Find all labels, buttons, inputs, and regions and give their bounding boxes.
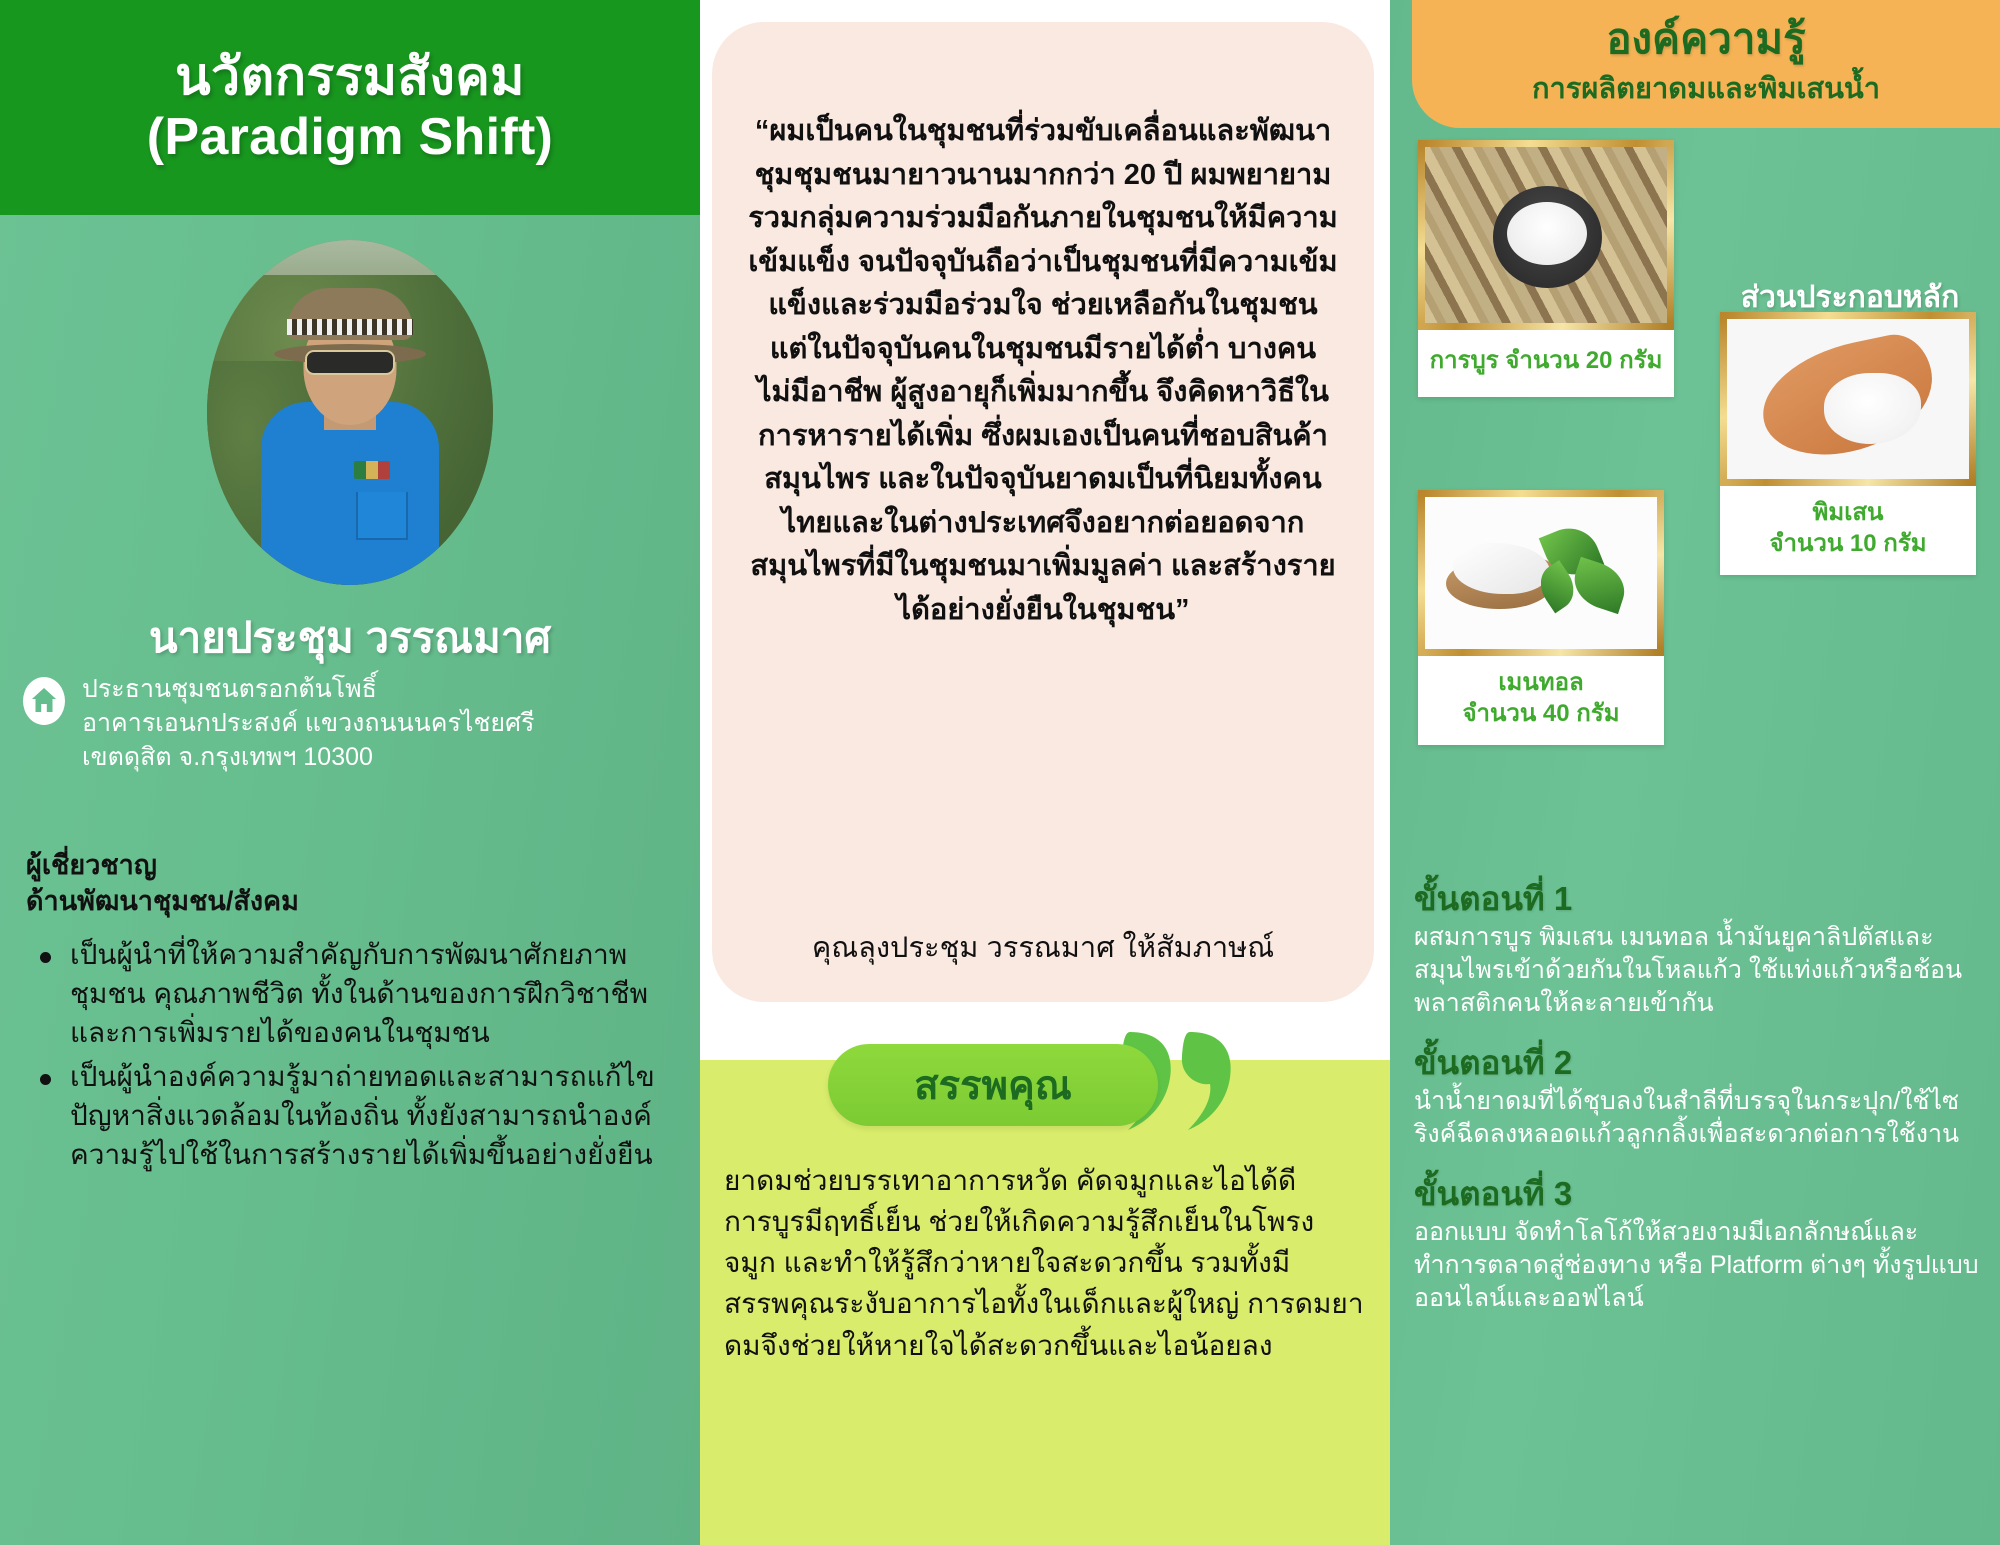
expertise-line-1: ผู้เชี่ยวชาญ bbox=[26, 848, 676, 884]
steps-list: ขั้นตอนที่ 1 ผสมการบูร พิมเสน เมนทอล น้ำ… bbox=[1414, 880, 1984, 1339]
infographic-page: นวัตกรรมสังคม (Paradigm Shift) นา bbox=[0, 0, 2000, 1545]
benefits-badge-label: สรรพคุณ bbox=[914, 1053, 1072, 1117]
step-title: ขั้นตอนที่ 2 bbox=[1414, 1044, 1984, 1083]
step-body: ผสมการบูร พิมเสน เมนทอล น้ำมันยูคาลิปตัส… bbox=[1414, 921, 1984, 1020]
knowledge-title: องค์ความรู้ bbox=[1606, 17, 1805, 61]
step-body: ออกแบบ จัดทำโลโก้ให้สวยงามมีเอกลักษณ์และ… bbox=[1414, 1216, 1984, 1315]
expertise-heading: ผู้เชี่ยวชาญ ด้านพัฒนาชุมชน/สังคม bbox=[26, 848, 676, 919]
page-title-line1: นวัตกรรมสังคม bbox=[175, 48, 525, 107]
ingredient-card: การบูร จำนวน 20 กรัม bbox=[1418, 140, 1674, 397]
menthol-photo bbox=[1418, 490, 1664, 656]
borneol-photo bbox=[1720, 312, 1976, 486]
ingredient-caption: การบูร จำนวน 20 กรัม bbox=[1418, 330, 1674, 397]
ingredient-caption: พิมเสน จำนวน 10 กรัม bbox=[1720, 486, 1976, 575]
expertise-bullet-list: เป็นผู้นำที่ให้ความสำคัญกับการพัฒนาศักยภ… bbox=[26, 935, 686, 1178]
left-header-banner: นวัตกรรมสังคม (Paradigm Shift) bbox=[0, 0, 700, 215]
expertise-line-2: ด้านพัฒนาชุมชน/สังคม bbox=[26, 884, 676, 920]
quote-card: “ผมเป็นคนในชุมชนที่ร่วมขับเคลื่อนและพัฒน… bbox=[712, 22, 1374, 1002]
step-title: ขั้นตอนที่ 1 bbox=[1414, 880, 1984, 919]
knowledge-subtitle: การผลิตยาดมและพิมเสนน้ำ bbox=[1532, 65, 1880, 111]
home-icon bbox=[22, 676, 66, 726]
left-column: นวัตกรรมสังคม (Paradigm Shift) นา bbox=[0, 0, 700, 1545]
camphor-photo bbox=[1418, 140, 1674, 330]
person-name: นายประชุม วรรณมาศ bbox=[0, 605, 700, 671]
address-line-2: อาคารเอนกประสงค์ แขวงถนนนครไชยศรี bbox=[82, 706, 534, 740]
benefits-badge: สรรพคุณ bbox=[828, 1044, 1158, 1126]
benefits-text: ยาดมช่วยบรรเทาอาการหวัด คัดจมูกและไอได้ด… bbox=[724, 1160, 1364, 1366]
portrait-photo bbox=[207, 240, 493, 585]
ingredient-card: พิมเสน จำนวน 10 กรัม bbox=[1720, 312, 1976, 575]
ingredient-caption: เมนทอล จำนวน 40 กรัม bbox=[1418, 656, 1664, 745]
ingredient-amount: จำนวน 10 กรัม bbox=[1720, 529, 1976, 560]
quote-attribution: คุณลุงประชุม วรรณมาศ ให้สัมภาษณ์ bbox=[748, 928, 1338, 969]
step-title: ขั้นตอนที่ 3 bbox=[1414, 1175, 1984, 1214]
address-line-1: ประธานชุมชนตรอกต้นโพธิ์ bbox=[82, 672, 534, 706]
ingredient-card: เมนทอล จำนวน 40 กรัม bbox=[1418, 490, 1664, 745]
right-column: องค์ความรู้ การผลิตยาดมและพิมเสนน้ำ ส่วน… bbox=[1390, 0, 2000, 1545]
ingredient-name: พิมเสน bbox=[1720, 498, 1976, 529]
address-block: ประธานชุมชนตรอกต้นโพธิ์ อาคารเอนกประสงค์… bbox=[22, 672, 662, 774]
list-item: เป็นผู้นำองค์ความรู้มาถ่ายทอดและสามารถแก… bbox=[26, 1057, 686, 1175]
right-header-banner: องค์ความรู้ การผลิตยาดมและพิมเสนน้ำ bbox=[1412, 0, 2000, 128]
page-title-line2: (Paradigm Shift) bbox=[147, 108, 553, 167]
step-body: นำน้ำยาดมที่ได้ชุบลงในสำลีที่บรรจุในกระป… bbox=[1414, 1085, 1984, 1151]
list-item: เป็นผู้นำที่ให้ความสำคัญกับการพัฒนาศักยภ… bbox=[26, 935, 686, 1053]
center-column: “ผมเป็นคนในชุมชนที่ร่วมขับเคลื่อนและพัฒน… bbox=[700, 0, 1390, 1545]
ingredient-name: เมนทอล bbox=[1418, 668, 1664, 699]
address-line-3: เขตดุสิต จ.กรุงเทพฯ 10300 bbox=[82, 740, 534, 774]
interview-quote: “ผมเป็นคนในชุมชนที่ร่วมขับเคลื่อนและพัฒน… bbox=[748, 110, 1338, 632]
ingredient-amount: จำนวน 40 กรัม bbox=[1418, 699, 1664, 730]
